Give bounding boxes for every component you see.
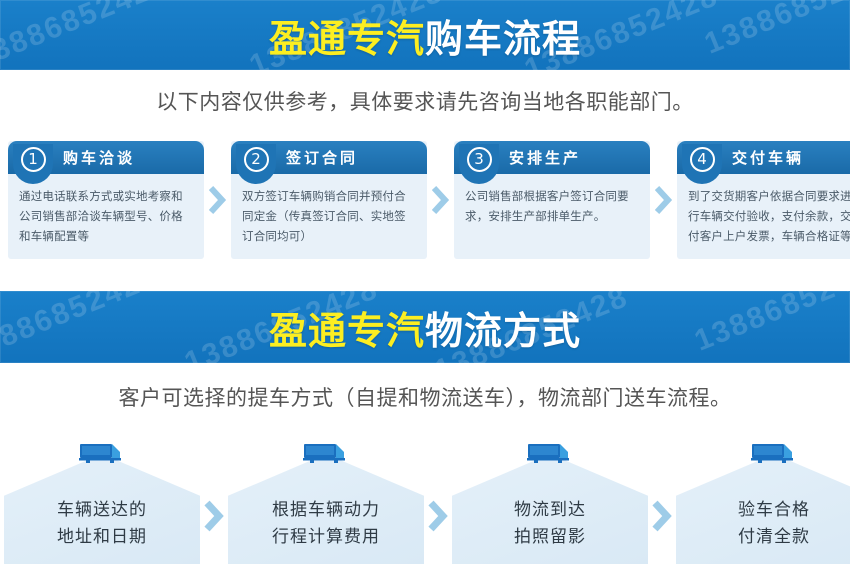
logistics-step-card[interactable]: 物流到达 拍照留影 [452, 440, 648, 564]
purchase-step-title: 交付车辆 [732, 147, 804, 168]
logistics-step-card[interactable]: 根据车辆动力 行程计算费用 [228, 440, 424, 564]
watermark-text: 13886852428 [690, 291, 850, 359]
logistics-step-line1: 根据车辆动力 [228, 497, 424, 523]
purchase-step-number: 3 [467, 147, 492, 172]
banner-title-highlight: 盈通专汽 [269, 309, 425, 353]
logistics-step-line1: 物流到达 [452, 497, 648, 523]
logistics-step-line1: 车辆送达的 [4, 497, 200, 523]
purchase-step-number: 2 [244, 147, 269, 172]
purchase-step-number: 4 [690, 147, 715, 172]
banner-title-rest: 物流方式 [425, 309, 581, 353]
watermark-text: 13886852428 [700, 0, 850, 62]
logistics-step-line2: 付清全款 [676, 524, 850, 550]
chevron-right-icon [652, 440, 672, 564]
purchase-step-header: 2 签订合同 [231, 141, 427, 174]
banner-title-highlight: 盈通专汽 [269, 17, 425, 61]
banner-logistics-title: 盈通专汽物流方式 [269, 300, 581, 355]
purchase-step-card[interactable]: 2 签订合同 双方签订车辆购销合同并预付合同定金（传真签订合同、实地签订合同均可… [231, 141, 427, 259]
logistics-step-text: 车辆送达的 地址和日期 [4, 497, 200, 550]
truck-icon [301, 442, 351, 468]
purchase-step-header: 4 交付车辆 [677, 141, 850, 174]
chevron-right-icon [655, 141, 672, 259]
purchase-step-number-badge: 2 [236, 144, 276, 184]
logistics-steps-row: 车辆送达的 地址和日期 根据车辆动力 行程计算费用 [4, 430, 846, 564]
purchase-step-title: 安排生产 [509, 147, 581, 168]
page-root: 13886852428 13886852428 13886852428 1388… [0, 0, 850, 564]
chevron-right-icon [428, 440, 448, 564]
watermark-text: 13886852428 [0, 0, 173, 70]
purchase-step-body: 双方签订车辆购销合同并预付合同定金（传真签订合同、实地签订合同均可） [231, 174, 427, 254]
logistics-step-text: 根据车辆动力 行程计算费用 [228, 497, 424, 550]
banner-logistics-method: 13886852428 13886852428 13886852428 1388… [0, 291, 850, 363]
logistics-step-card[interactable]: 车辆送达的 地址和日期 [4, 440, 200, 564]
truck-icon [525, 442, 575, 468]
truck-icon [77, 442, 127, 468]
logistics-step-text: 物流到达 拍照留影 [452, 497, 648, 550]
banner-purchase-title: 盈通专汽购车流程 [269, 8, 581, 63]
logistics-subtitle: 客户可选择的提车方式（自提和物流送车），物流部门送车流程。 [0, 382, 850, 412]
purchase-subtitle: 以下内容仅供参考，具体要求请先咨询当地各职能部门。 [0, 86, 850, 116]
purchase-step-number-badge: 4 [682, 144, 722, 184]
purchase-step-header: 3 安排生产 [454, 141, 650, 174]
purchase-step-card[interactable]: 1 购车洽谈 通过电话联系方式或实地考察和公司销售部洽谈车辆型号、价格和车辆配置… [8, 141, 204, 259]
logistics-step-text: 验车合格 付清全款 [676, 497, 850, 550]
chevron-right-icon [432, 141, 449, 259]
banner-title-rest: 购车流程 [425, 17, 581, 61]
purchase-step-card[interactable]: 4 交付车辆 到了交货期客户依据合同要求进行车辆交付验收，支付余款，交付客户上户… [677, 141, 850, 259]
purchase-step-body: 通过电话联系方式或实地考察和公司销售部洽谈车辆型号、价格和车辆配置等 [8, 174, 204, 254]
purchase-step-card[interactable]: 3 安排生产 公司销售部根据客户签订合同要求，安排生产部排单生产。 [454, 141, 650, 259]
logistics-step-line1: 验车合格 [676, 497, 850, 523]
chevron-right-icon [204, 440, 224, 564]
truck-icon [749, 442, 799, 468]
purchase-step-header: 1 购车洽谈 [8, 141, 204, 174]
purchase-step-title: 购车洽谈 [63, 147, 135, 168]
purchase-step-title: 签订合同 [286, 147, 358, 168]
banner-purchase-process: 13886852428 13886852428 13886852428 1388… [0, 0, 850, 70]
purchase-step-number-badge: 1 [13, 144, 53, 184]
logistics-step-line2: 拍照留影 [452, 524, 648, 550]
logistics-step-line2: 地址和日期 [4, 524, 200, 550]
purchase-step-number: 1 [21, 147, 46, 172]
watermark-text: 13886852428 [0, 291, 163, 363]
purchase-step-body: 到了交货期客户依据合同要求进行车辆交付验收，支付余款，交付客户上户发票，车辆合格… [677, 174, 850, 254]
logistics-step-line2: 行程计算费用 [228, 524, 424, 550]
purchase-steps-row: 1 购车洽谈 通过电话联系方式或实地考察和公司销售部洽谈车辆型号、价格和车辆配置… [8, 141, 842, 259]
logistics-step-card[interactable]: 验车合格 付清全款 [676, 440, 850, 564]
chevron-right-icon [209, 141, 226, 259]
purchase-step-number-badge: 3 [459, 144, 499, 184]
